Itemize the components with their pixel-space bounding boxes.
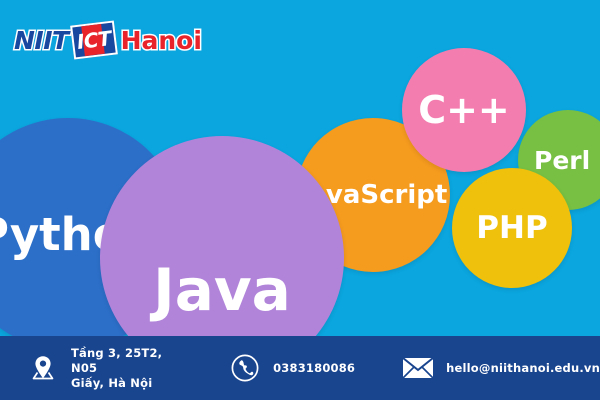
bubble-php: PHP	[452, 168, 572, 288]
contact-email[interactable]: hello@niithanoi.edu.vn	[401, 351, 600, 385]
phone-icon	[228, 351, 262, 385]
logo-text-hanoi: Hanoi	[121, 28, 202, 53]
contact-email-address: hello@niithanoi.edu.vn	[446, 361, 600, 376]
contact-phone-number: 0383180086	[273, 361, 355, 376]
envelope-icon	[401, 351, 435, 385]
contact-address-line1: Tầng 3, 25T2, N05	[71, 346, 162, 375]
map-pin-icon	[26, 351, 60, 385]
logo-text-niit: NIIT	[14, 28, 69, 53]
contact-address: Tầng 3, 25T2, N05 Giấy, Hà Nội	[26, 346, 176, 391]
contact-phone[interactable]: 0383180086	[228, 351, 355, 385]
contact-address-line2: Giấy, Hà Nội	[71, 376, 176, 391]
contact-address-text: Tầng 3, 25T2, N05 Giấy, Hà Nội	[71, 346, 176, 391]
bubble-cpp: C++	[402, 48, 526, 172]
promo-banner: NIIT ICT Hanoi Python JavaScript Perl C+…	[0, 0, 600, 400]
footer-contact-bar: Tầng 3, 25T2, N05 Giấy, Hà Nội 038318008…	[0, 336, 600, 400]
logo-ict-badge: ICT	[72, 23, 116, 57]
niit-ict-hanoi-logo[interactable]: NIIT ICT Hanoi	[14, 20, 202, 60]
logo-text-ict: ICT	[70, 20, 118, 59]
